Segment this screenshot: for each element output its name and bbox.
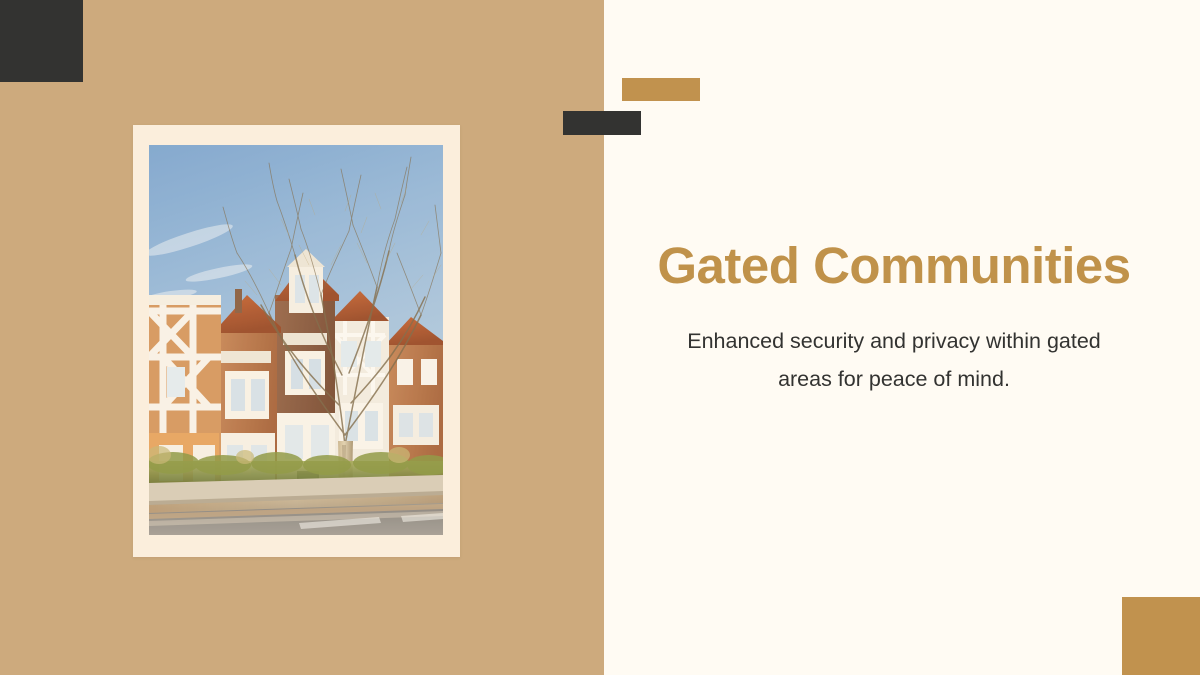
bottom-right-gold-block-decoration bbox=[1122, 597, 1200, 675]
slide-root: Gated Communities Enhanced security and … bbox=[0, 0, 1200, 675]
photo-frame bbox=[133, 125, 460, 557]
slide-subtitle: Enhanced security and privacy within gat… bbox=[679, 322, 1109, 399]
text-block: Gated Communities Enhanced security and … bbox=[628, 236, 1160, 399]
page-title: Gated Communities bbox=[628, 236, 1160, 296]
top-left-dark-square-decoration bbox=[0, 0, 83, 82]
accent-dark-bar-decoration bbox=[563, 111, 641, 135]
accent-gold-bar-decoration bbox=[622, 78, 700, 101]
townhouses-photo-illustration bbox=[149, 145, 443, 535]
photo-image bbox=[149, 145, 443, 535]
